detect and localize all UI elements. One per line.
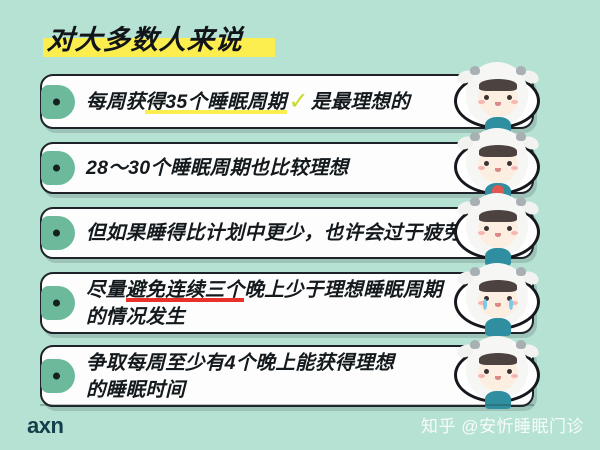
tip-card[interactable]: 28～30个睡眠周期也比较理想	[40, 142, 534, 194]
sheep-hood-kid-sad-icon	[450, 200, 546, 266]
card-text: 28～30个睡眠周期也比较理想	[86, 155, 348, 181]
title-text: 对大多数人来说	[46, 20, 244, 60]
card-bullet-tab	[41, 216, 75, 250]
sheep-hood-kid-crying-icon	[450, 270, 546, 336]
brand-logo: axn	[27, 412, 63, 440]
dot-icon	[53, 230, 60, 237]
text-segment: 是最理想的	[311, 91, 410, 113]
dot-icon	[53, 98, 60, 105]
check-icon: ✓	[289, 89, 309, 115]
poster-canvas: 对大多数人来说 每周获得35个睡眠周期✓是最理想的28～30个睡眠周期也比较理想…	[0, 0, 600, 450]
card-text-line: 的情况发生	[86, 304, 442, 330]
tip-card[interactable]: 争取每周至少有4个晚上能获得理想的睡眠时间	[40, 345, 534, 407]
text-segment: 但如果睡得比计划中更少，也许会过于疲劳	[86, 222, 462, 244]
card-text: 尽量避免连续三个晚上少于理想睡眠周期的情况发生	[86, 277, 442, 330]
page-title: 对大多数人来说	[47, 20, 243, 60]
text-segment: 的情况发生	[86, 306, 185, 328]
text-segment: 28～30个睡眠周期也比较理想	[86, 157, 348, 179]
text-segment: 尽量	[86, 279, 126, 301]
card-bullet-tab	[41, 359, 75, 393]
highlighted-phrase-yellow: 得35个睡眠周期	[145, 91, 286, 114]
card-bullet-tab	[41, 151, 75, 185]
text-segment: 每周获	[86, 91, 145, 113]
card-text-line: 的睡眠时间	[86, 377, 394, 403]
author-credit: 知乎 @安忻睡眠门诊	[421, 414, 584, 440]
tip-card[interactable]: 每周获得35个睡眠周期✓是最理想的	[40, 74, 534, 129]
card-bullet-tab	[41, 286, 75, 320]
card-bullet-tab	[41, 85, 75, 119]
text-segment: 争取每周至少有4个晚上能获得理想	[86, 352, 394, 374]
sheep-hood-kid-surprised-icon	[450, 343, 546, 409]
card-text-line: 每周获得35个睡眠周期✓是最理想的	[86, 88, 410, 115]
text-segment: 晚上少于理想睡眠周期	[244, 279, 442, 301]
tip-card[interactable]: 但如果睡得比计划中更少，也许会过于疲劳	[40, 207, 534, 259]
card-text-line: 28～30个睡眠周期也比较理想	[86, 155, 348, 181]
sheep-hood-kid-holding-apple-icon	[450, 135, 546, 201]
card-text: 每周获得35个睡眠周期✓是最理想的	[86, 88, 410, 115]
text-segment: 的睡眠时间	[86, 379, 185, 401]
card-text-line: 尽量避免连续三个晚上少于理想睡眠周期	[86, 277, 442, 303]
dot-icon	[53, 373, 60, 380]
sheep-hood-kid-happy-icon	[450, 69, 546, 135]
tip-card[interactable]: 尽量避免连续三个晚上少于理想睡眠周期的情况发生	[40, 272, 534, 334]
highlighted-phrase-red: 避免连续三个	[126, 279, 245, 302]
card-text: 争取每周至少有4个晚上能获得理想的睡眠时间	[86, 350, 394, 403]
dot-icon	[53, 165, 60, 172]
card-text-line: 但如果睡得比计划中更少，也许会过于疲劳	[86, 220, 462, 246]
dot-icon	[53, 300, 60, 307]
card-text-line: 争取每周至少有4个晚上能获得理想	[86, 350, 394, 376]
footer-divider	[40, 404, 534, 406]
card-text: 但如果睡得比计划中更少，也许会过于疲劳	[86, 220, 462, 246]
